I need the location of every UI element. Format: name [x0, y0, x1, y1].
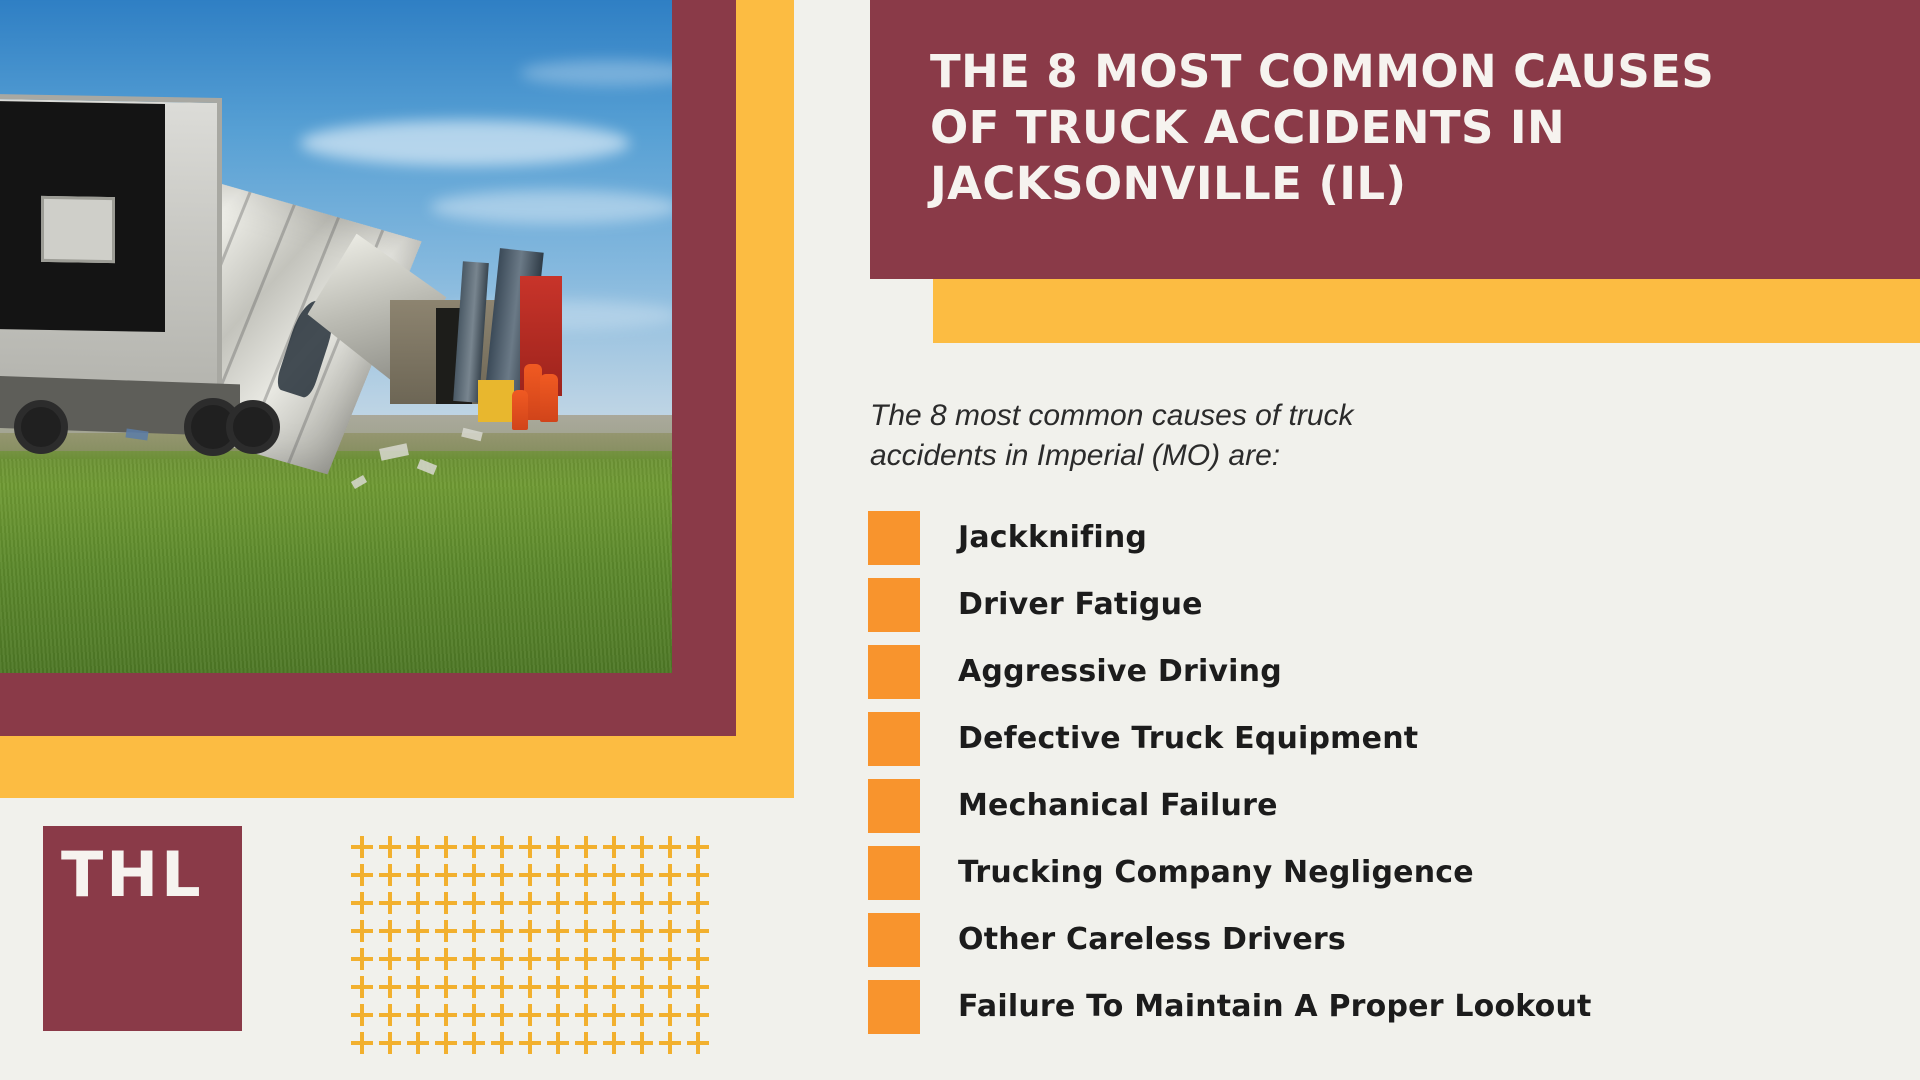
plus-icon [518, 890, 546, 918]
plus-icon [630, 862, 658, 890]
plus-icon [518, 1030, 546, 1058]
list-item-label: Failure To Maintain A Proper Lookout [958, 989, 1592, 1024]
photo-yellow-equipment [478, 380, 514, 422]
plus-icon [602, 890, 630, 918]
list-item-label: Jackknifing [958, 520, 1147, 555]
list-item: Driver Fatigue [868, 571, 1908, 638]
plus-icon [630, 1030, 658, 1058]
plus-icon [434, 974, 462, 1002]
plus-icon [462, 974, 490, 1002]
plus-icon [490, 918, 518, 946]
thl-logo: THL [43, 826, 242, 1031]
plus-icon [658, 974, 686, 1002]
plus-icon [378, 862, 406, 890]
plus-icon [574, 834, 602, 862]
list-item: Failure To Maintain A Proper Lookout [868, 973, 1908, 1040]
plus-icon [518, 918, 546, 946]
plus-icon [602, 1002, 630, 1030]
plus-icon [574, 862, 602, 890]
list-item: Jackknifing [868, 504, 1908, 571]
photo-emergency-worker [540, 374, 558, 422]
plus-icon [434, 918, 462, 946]
plus-icon [630, 1002, 658, 1030]
list-item-label: Trucking Company Negligence [958, 855, 1474, 890]
plus-icon [546, 974, 574, 1002]
square-bullet-icon [868, 712, 920, 766]
plus-icon [546, 918, 574, 946]
plus-icon [630, 974, 658, 1002]
plus-icon [658, 946, 686, 974]
plus-icon [462, 946, 490, 974]
square-bullet-icon [868, 980, 920, 1034]
header-yellow-underbar [933, 279, 1920, 343]
plus-icon [462, 862, 490, 890]
plus-icon [630, 834, 658, 862]
header-banner: The 8 Most Common Causes of Truck Accide… [870, 0, 1920, 279]
photo-emergency-worker [512, 390, 528, 430]
plus-icon [434, 1002, 462, 1030]
photo-trailer-wheel [14, 400, 68, 454]
plus-icon [406, 918, 434, 946]
page-title: The 8 Most Common Causes of Truck Accide… [930, 44, 1890, 211]
plus-icon [350, 918, 378, 946]
plus-icon [462, 834, 490, 862]
plus-icon [602, 918, 630, 946]
plus-icon [686, 1030, 714, 1058]
plus-icon [602, 1030, 630, 1058]
plus-icon [462, 1002, 490, 1030]
plus-icon [518, 946, 546, 974]
photo-grass-field [0, 433, 672, 673]
plus-icon [490, 862, 518, 890]
plus-icon [574, 974, 602, 1002]
plus-icon [378, 946, 406, 974]
plus-icon [574, 1002, 602, 1030]
plus-icon [518, 862, 546, 890]
plus-icon [490, 890, 518, 918]
plus-icon [518, 974, 546, 1002]
plus-icon [686, 946, 714, 974]
plus-icon [546, 1002, 574, 1030]
list-item: Trucking Company Negligence [868, 839, 1908, 906]
photo-trailer-rear-box [0, 94, 222, 398]
square-bullet-icon [868, 846, 920, 900]
plus-icon [350, 946, 378, 974]
plus-icon [518, 834, 546, 862]
plus-icon [602, 862, 630, 890]
plus-icon [378, 1030, 406, 1058]
plus-icon [350, 862, 378, 890]
photo-cloud [430, 190, 672, 224]
plus-icon [378, 834, 406, 862]
plus-icon [350, 1002, 378, 1030]
list-item-label: Aggressive Driving [958, 654, 1282, 689]
causes-list: Jackknifing Driver Fatigue Aggressive Dr… [868, 504, 1908, 1040]
plus-icon [658, 834, 686, 862]
list-item-label: Mechanical Failure [958, 788, 1278, 823]
list-item: Defective Truck Equipment [868, 705, 1908, 772]
plus-icon [378, 1002, 406, 1030]
plus-icon [378, 918, 406, 946]
plus-pattern-decoration [350, 834, 714, 1058]
plus-icon [350, 1030, 378, 1058]
list-item-label: Other Careless Drivers [958, 922, 1346, 957]
plus-icon [686, 834, 714, 862]
plus-icon [630, 890, 658, 918]
plus-icon [406, 862, 434, 890]
plus-icon [434, 1030, 462, 1058]
plus-icon [658, 862, 686, 890]
plus-icon [490, 974, 518, 1002]
square-bullet-icon [868, 511, 920, 565]
plus-icon [658, 890, 686, 918]
plus-icon [434, 946, 462, 974]
plus-icon [350, 834, 378, 862]
square-bullet-icon [868, 913, 920, 967]
photo-trailer-side-panel [41, 196, 115, 263]
list-item: Aggressive Driving [868, 638, 1908, 705]
photo-trailer-wheel [226, 400, 280, 454]
plus-icon [546, 946, 574, 974]
plus-icon [462, 918, 490, 946]
plus-icon [658, 918, 686, 946]
plus-icon [406, 974, 434, 1002]
list-item-label: Defective Truck Equipment [958, 721, 1418, 756]
plus-icon [658, 1030, 686, 1058]
plus-icon [574, 1030, 602, 1058]
plus-icon [574, 946, 602, 974]
plus-icon [630, 918, 658, 946]
plus-icon [546, 1030, 574, 1058]
plus-icon [686, 890, 714, 918]
plus-icon [602, 974, 630, 1002]
square-bullet-icon [868, 779, 920, 833]
list-item-label: Driver Fatigue [958, 587, 1203, 622]
plus-icon [406, 834, 434, 862]
plus-icon [686, 1002, 714, 1030]
plus-icon [378, 974, 406, 1002]
plus-icon [350, 890, 378, 918]
plus-icon [546, 890, 574, 918]
plus-icon [462, 890, 490, 918]
plus-icon [574, 918, 602, 946]
plus-icon [350, 974, 378, 1002]
logo-text: THL [61, 844, 204, 906]
plus-icon [518, 1002, 546, 1030]
plus-icon [490, 1030, 518, 1058]
plus-icon [490, 834, 518, 862]
plus-icon [546, 862, 574, 890]
plus-icon [406, 1002, 434, 1030]
plus-icon [434, 890, 462, 918]
plus-icon [630, 946, 658, 974]
plus-icon [686, 862, 714, 890]
plus-icon [462, 1030, 490, 1058]
plus-icon [602, 834, 630, 862]
truck-accident-photo [0, 0, 672, 673]
infographic-page: The 8 Most Common Causes of Truck Accide… [0, 0, 1920, 1080]
plus-icon [574, 890, 602, 918]
plus-icon [546, 834, 574, 862]
plus-icon [406, 1030, 434, 1058]
plus-icon [602, 946, 630, 974]
plus-icon [406, 946, 434, 974]
photo-cloud [300, 120, 630, 166]
square-bullet-icon [868, 645, 920, 699]
plus-icon [686, 974, 714, 1002]
plus-icon [406, 890, 434, 918]
square-bullet-icon [868, 578, 920, 632]
list-item: Other Careless Drivers [868, 906, 1908, 973]
plus-icon [686, 918, 714, 946]
plus-icon [490, 946, 518, 974]
plus-icon [658, 1002, 686, 1030]
plus-icon [378, 890, 406, 918]
plus-icon [490, 1002, 518, 1030]
intro-subtitle: The 8 most common causes of truck accide… [870, 396, 1660, 476]
list-item: Mechanical Failure [868, 772, 1908, 839]
plus-icon [434, 862, 462, 890]
plus-icon [434, 834, 462, 862]
